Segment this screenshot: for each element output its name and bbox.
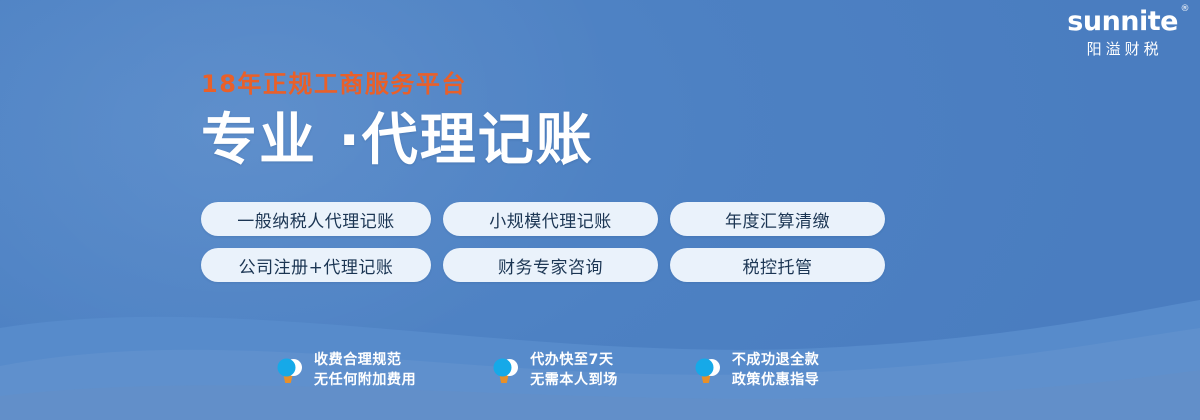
brand-logo[interactable]: sunnite® 阳溢财税: [1067, 8, 1178, 57]
feature-line-2: 政策优惠指导: [732, 370, 820, 390]
dual-circle-icon: [274, 354, 304, 386]
hero-eyebrow: 18年正规工商服务平台: [201, 72, 594, 96]
service-pill-small-scale-bookkeeping[interactable]: 小规模代理记账: [443, 202, 658, 236]
feature-item-text: 收费合理规范 无任何附加费用: [314, 350, 416, 391]
brand-subtitle: 阳溢财税: [1067, 42, 1178, 57]
promo-banner: sunnite® 阳溢财税 18年正规工商服务平台 专业 ·代理记账 一般纳税人…: [0, 0, 1200, 420]
feature-item-text: 代办快至7天 无需本人到场: [530, 350, 618, 391]
dual-circle-icon: [692, 354, 722, 386]
service-pill-grid: 一般纳税人代理记账 小规模代理记账 年度汇算清缴 公司注册+代理记账 财务专家咨…: [201, 202, 901, 282]
registered-trademark-icon: ®: [1181, 5, 1190, 14]
feature-line-2: 无需本人到场: [530, 370, 618, 390]
service-pill-company-registration-bookkeeping[interactable]: 公司注册+代理记账: [201, 248, 431, 282]
service-pill-row: 公司注册+代理记账 财务专家咨询 税控托管: [201, 248, 901, 282]
service-pill-general-taxpayer-bookkeeping[interactable]: 一般纳税人代理记账: [201, 202, 431, 236]
feature-line-1: 代办快至7天: [530, 350, 618, 370]
service-pill-tax-control-hosting[interactable]: 税控托管: [670, 248, 885, 282]
hero-headline: 专业 ·代理记账: [201, 112, 594, 171]
feature-line-1: 收费合理规范: [314, 350, 416, 370]
feature-item-speed: 代办快至7天 无需本人到场: [490, 350, 618, 391]
hero-copy: 18年正规工商服务平台 专业 ·代理记账: [201, 72, 594, 171]
feature-item-pricing: 收费合理规范 无任何附加费用: [274, 350, 416, 391]
feature-list: 收费合理规范 无任何附加费用 代办快至7天 无需本人到场: [274, 350, 819, 391]
feature-item-text: 不成功退全款 政策优惠指导: [732, 350, 820, 391]
feature-line-2: 无任何附加费用: [314, 370, 416, 390]
brand-wordmark-text: sunnite: [1067, 6, 1178, 37]
service-pill-annual-tax-settlement[interactable]: 年度汇算清缴: [670, 202, 885, 236]
service-pill-financial-expert-consulting[interactable]: 财务专家咨询: [443, 248, 658, 282]
brand-wordmark: sunnite®: [1067, 8, 1178, 35]
dual-circle-icon: [490, 354, 520, 386]
feature-line-1: 不成功退全款: [732, 350, 820, 370]
service-pill-row: 一般纳税人代理记账 小规模代理记账 年度汇算清缴: [201, 202, 901, 236]
feature-item-guarantee: 不成功退全款 政策优惠指导: [692, 350, 820, 391]
background-waves: [0, 270, 1200, 420]
